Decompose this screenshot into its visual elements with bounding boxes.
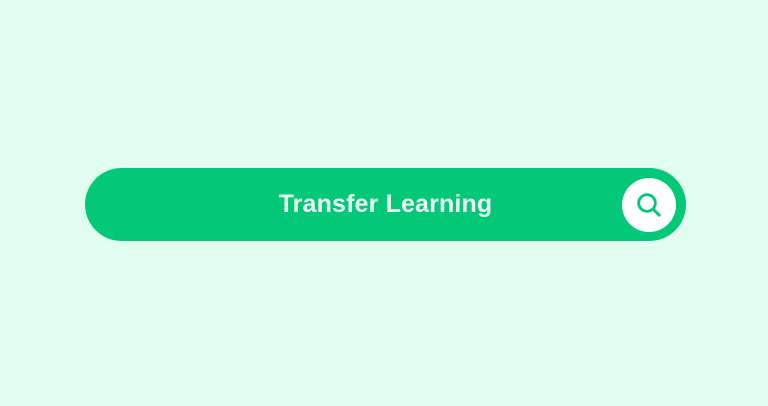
search-input[interactable]: Transfer Learning	[279, 192, 493, 217]
search-submit-button[interactable]	[622, 178, 676, 232]
search-bar[interactable]: Transfer Learning	[85, 168, 686, 241]
search-icon	[634, 190, 664, 220]
page-background: Transfer Learning	[0, 0, 768, 406]
